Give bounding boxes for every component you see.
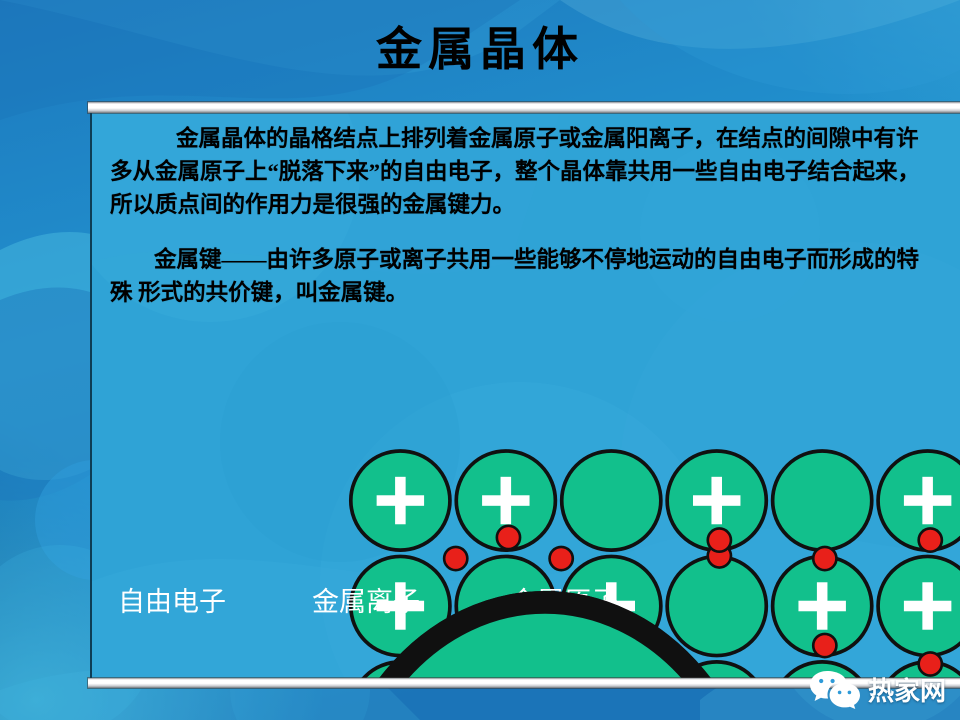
legend-item-metal-atom: 金属原子 (510, 580, 618, 619)
free-electron (444, 547, 467, 570)
panel-top-bevel (88, 102, 960, 113)
watermark-text: 热家网 (868, 671, 946, 708)
body-text-block: 金属晶体的晶格结点上排列着金属原子或金属阳离子，在结点的间隙中有许多从金属原子上… (110, 122, 938, 321)
panel-surface: 金属晶体的晶格结点上排列着金属原子或金属阳离子，在结点的间隙中有许多从金属原子上… (90, 112, 960, 680)
content-panel: 金属晶体的晶格结点上排列着金属原子或金属阳离子，在结点的间隙中有许多从金属原子上… (88, 102, 960, 688)
free-electron (708, 528, 731, 551)
free-electron (919, 528, 942, 551)
slide-title-area: 金属晶体 (0, 0, 960, 100)
metal-atom (562, 451, 661, 550)
green-circle-icon (110, 574, 960, 680)
legend: 自由电子 金属离子 金属原子 (110, 574, 910, 624)
page-title: 金属晶体 (376, 27, 584, 73)
paragraph-2: 金属键——由许多原子或离子共用一些能够不停地运动的自由电子而形成的特殊 形式的共… (110, 243, 938, 309)
metal-atom (773, 451, 872, 550)
free-electron (813, 547, 836, 570)
free-electron (550, 547, 573, 570)
paragraph-1: 金属晶体的晶格结点上排列着金属原子或金属阳离子，在结点的间隙中有许多从金属原子上… (110, 122, 938, 221)
panel-left-edge (90, 113, 92, 678)
metallic-lattice-diagram (345, 380, 675, 546)
watermark: 热家网 (808, 668, 946, 710)
free-electron (497, 526, 520, 549)
wechat-icon (808, 668, 862, 710)
